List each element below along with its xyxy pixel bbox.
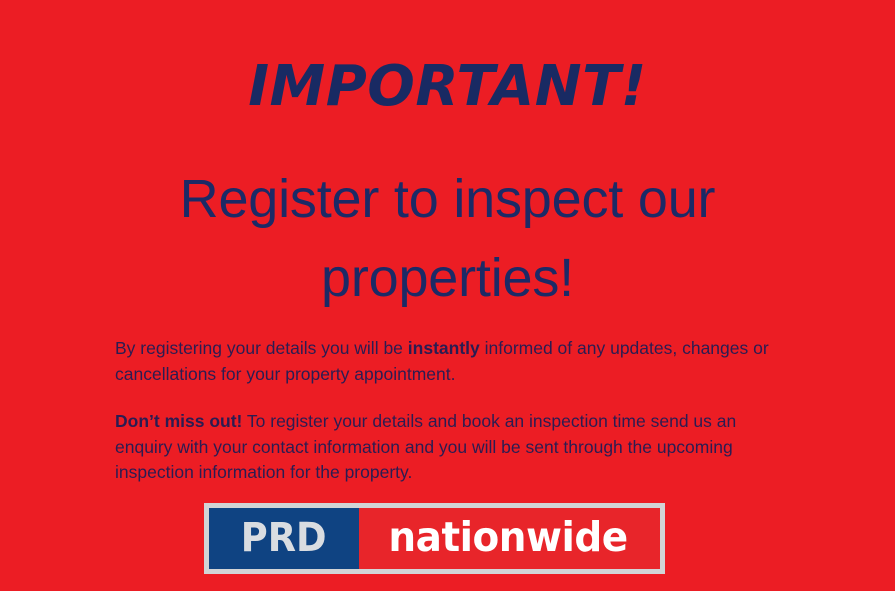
body-copy: By registering your details you will be …: [115, 336, 775, 486]
promo-poster: IMPORTANT! Register to inspect our prope…: [0, 0, 895, 591]
logo-nationwide-text: nationwide: [388, 517, 631, 561]
paragraph1-bold-instantly: instantly: [408, 338, 480, 358]
paragraph-registering: By registering your details you will be …: [115, 336, 775, 387]
paragraph2-bold-dont-miss-out: Don’t miss out!: [115, 411, 242, 431]
subheading: Register to inspect our properties!: [80, 160, 815, 319]
prd-nationwide-logo: PRD nationwide: [204, 503, 665, 574]
logo-left-panel: PRD: [209, 508, 359, 569]
logo-right-panel: nationwide: [359, 508, 660, 569]
paragraph-dont-miss-out: Don’t miss out! To register your details…: [115, 409, 775, 486]
logo-prd-text: PRD: [241, 518, 327, 560]
page-title: IMPORTANT!: [0, 58, 895, 117]
paragraph1-before-bold: By registering your details you will be: [115, 338, 408, 358]
